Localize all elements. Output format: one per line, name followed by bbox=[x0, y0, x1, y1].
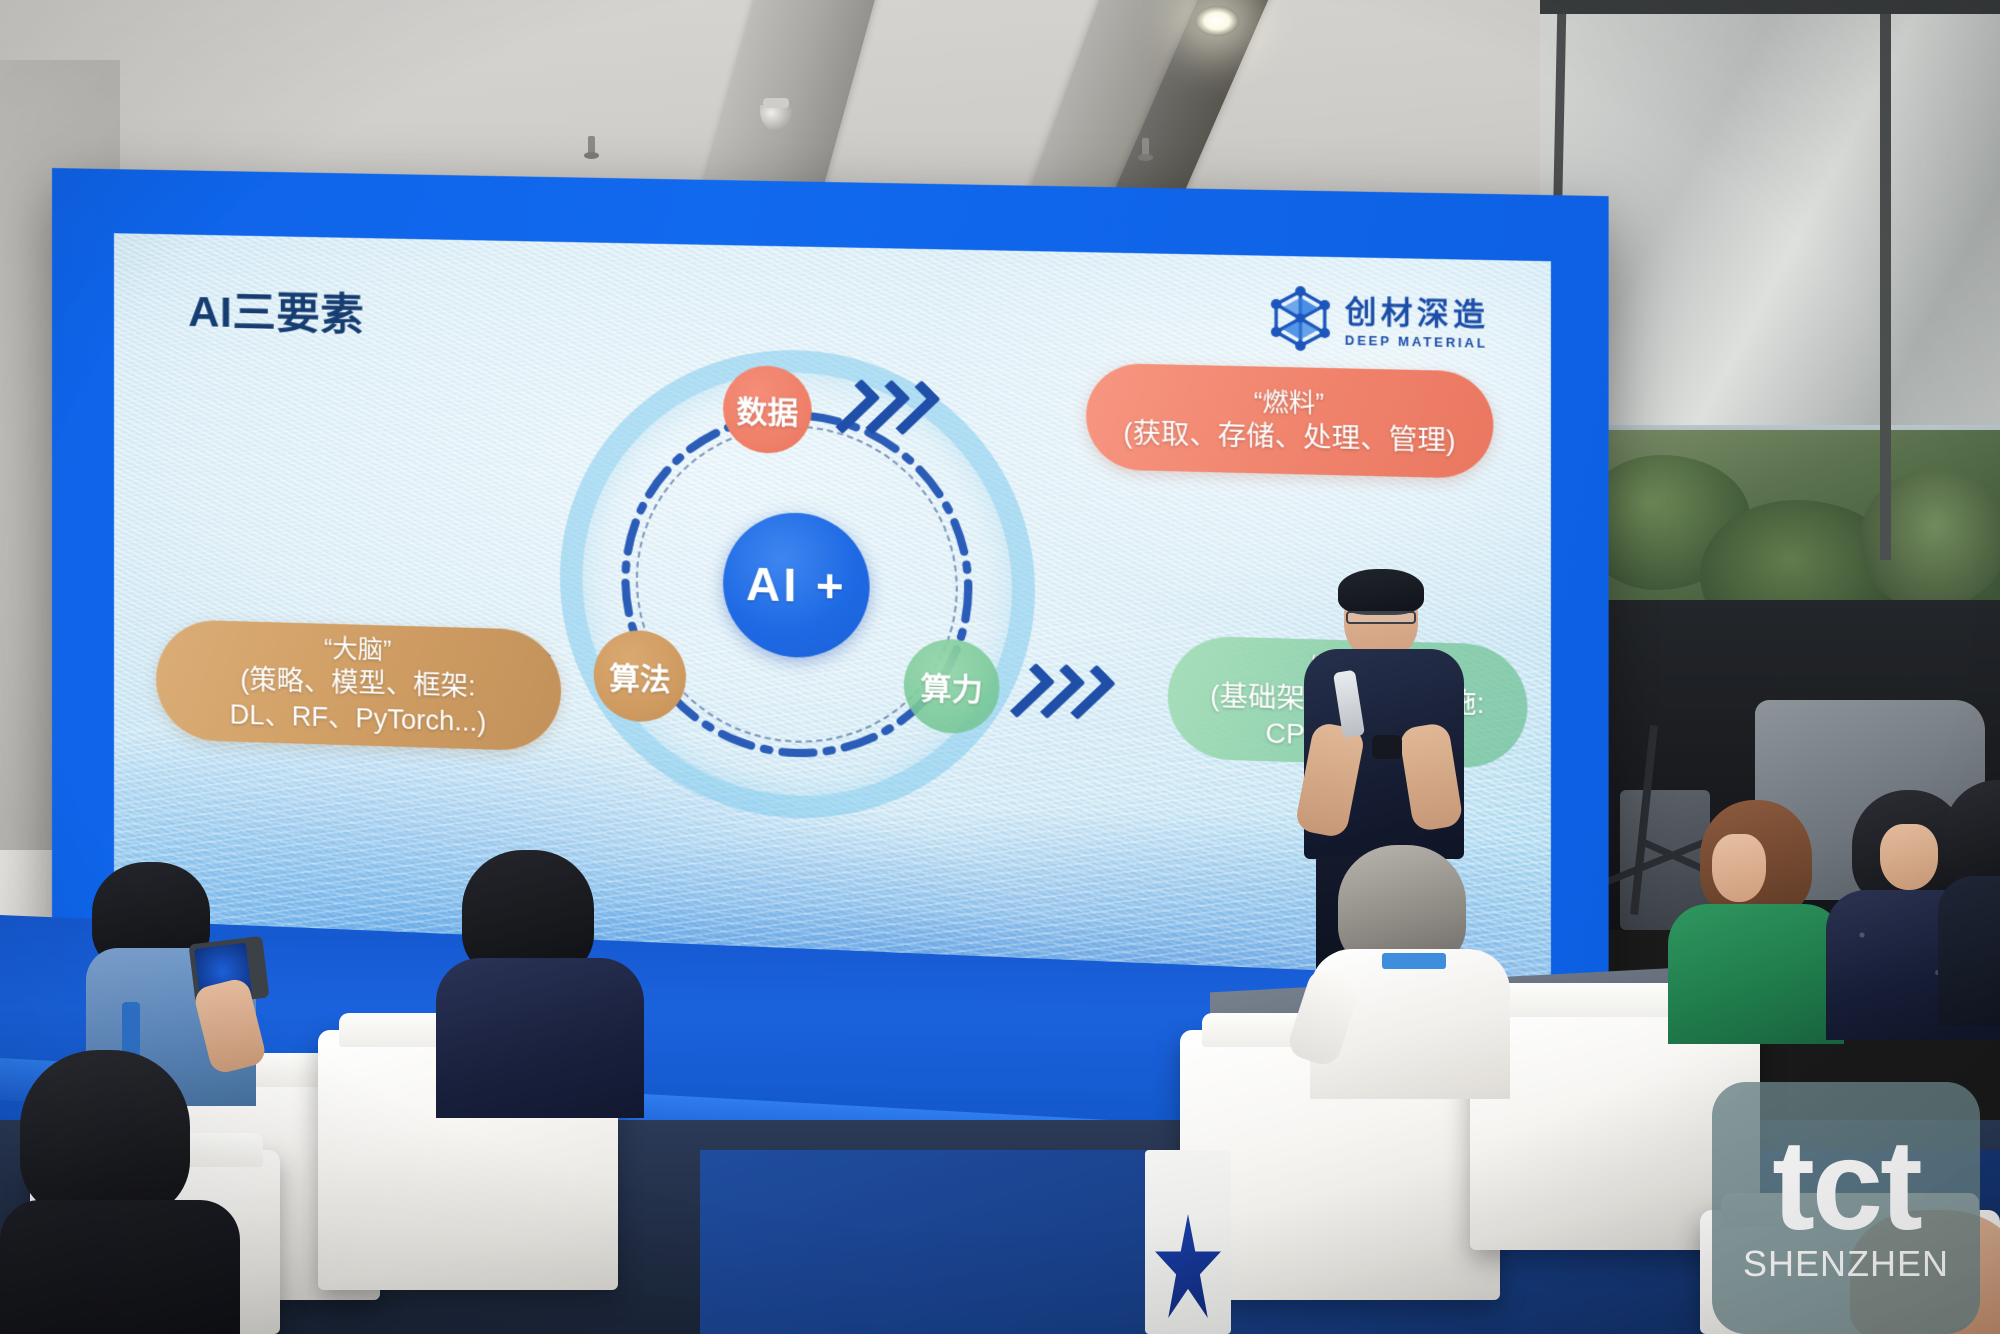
speaker-hair bbox=[1338, 569, 1424, 615]
audience-shirt bbox=[0, 1200, 240, 1334]
audience-shirt bbox=[436, 958, 644, 1118]
arrow-power-to-right bbox=[1013, 664, 1101, 720]
audience-member-foreground bbox=[0, 1050, 230, 1334]
lanyard bbox=[1382, 953, 1446, 969]
tote-bag bbox=[1145, 1150, 1231, 1334]
node-data: 数据 bbox=[723, 365, 812, 454]
callout-brain-line3: DL、RF、PyTorch...) bbox=[230, 697, 487, 740]
window-mullion bbox=[1540, 0, 2000, 14]
speaker-glasses bbox=[1346, 611, 1416, 624]
tct-logo-subtext: SHENZHEN bbox=[1743, 1243, 1949, 1285]
ceiling-spotlight bbox=[1195, 6, 1239, 36]
audience-member-far-right bbox=[1938, 780, 2000, 1000]
audience-face bbox=[1880, 824, 1938, 890]
audience-shirt bbox=[1938, 876, 2000, 1026]
tct-logo-text: tct bbox=[1772, 1131, 1919, 1241]
bag-star-graphic bbox=[1155, 1214, 1221, 1318]
wristwatch bbox=[1372, 735, 1402, 759]
audience-member-green bbox=[1660, 800, 1840, 1030]
callout-brain-title: “大脑” bbox=[324, 633, 391, 667]
audience-green-blouse bbox=[1668, 904, 1844, 1044]
audience-member-navy bbox=[440, 850, 650, 1110]
audience-member-white-shirt bbox=[1290, 845, 1510, 1085]
sprinkler-head bbox=[588, 136, 595, 156]
window-mullion bbox=[1880, 0, 1891, 560]
callout-fuel: “燃料” (获取、存储、处理、管理) bbox=[1086, 363, 1493, 479]
arrow-data-to-fuel bbox=[839, 380, 926, 435]
callout-brain: “大脑” (策略、模型、框架: DL、RF、PyTorch...) bbox=[156, 619, 561, 752]
audience-head bbox=[20, 1050, 190, 1218]
photo-scene: AI三要素 bbox=[0, 0, 2000, 1334]
audience-face bbox=[1712, 834, 1766, 902]
sprinkler-head bbox=[1142, 138, 1149, 158]
callout-fuel-title: “燃料” bbox=[1254, 386, 1324, 420]
callout-fuel-detail: (获取、存储、处理、管理) bbox=[1123, 415, 1455, 458]
tct-shenzhen-watermark: tct SHENZHEN bbox=[1712, 1082, 1980, 1334]
